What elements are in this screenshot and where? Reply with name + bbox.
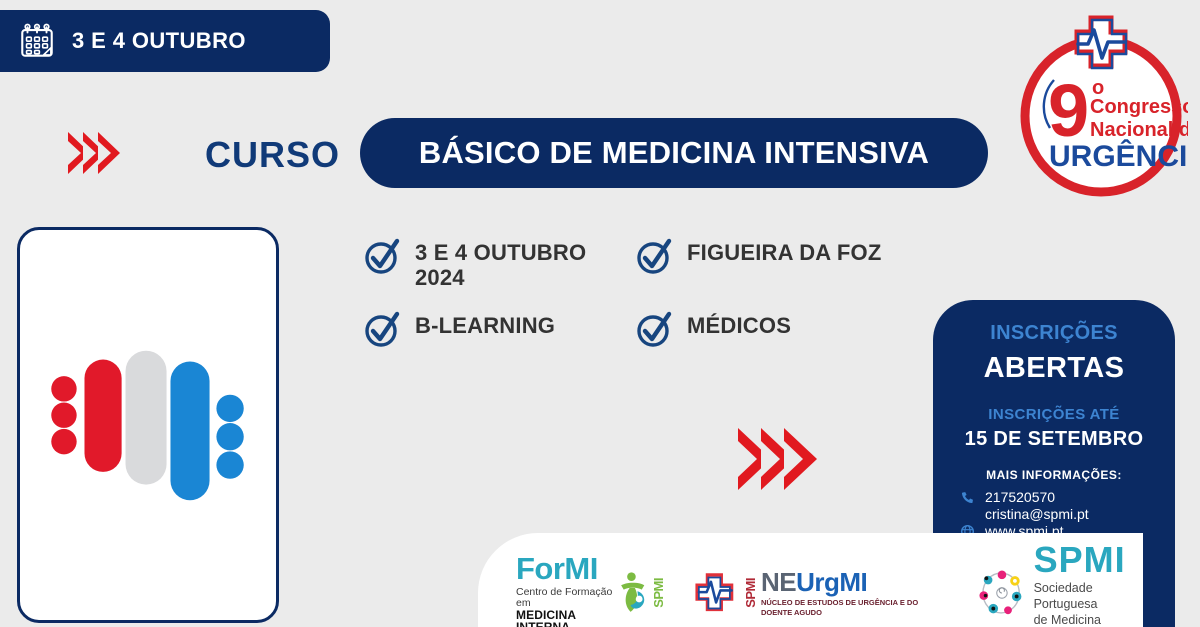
contact-row-email[interactable]: cristina@spmi.pt (960, 506, 1175, 522)
spmi-molecule-icon (976, 565, 1026, 621)
formi-wordmark: ForMI (516, 553, 616, 584)
registration-until-label: INSCRIÇÕES ATÉ (933, 406, 1175, 423)
triple-chevron-right-icon (738, 428, 807, 490)
check-circle-icon (634, 309, 674, 349)
feature-label: MÉDICOS (687, 313, 791, 338)
contact-list: 217520570 cristina@spmi.pt www.spmi.pt (933, 489, 1175, 539)
neurgmi-wordmark-part2: UrgMI (796, 567, 867, 597)
feature-label: 3 E 4 OUTUBRO 2024 (415, 240, 610, 291)
registration-kicker: INSCRIÇÕES (933, 322, 1175, 345)
formi-figure-icon (616, 567, 650, 619)
contact-email: cristina@spmi.pt (985, 506, 1089, 522)
promo-banner: 3 E 4 OUTUBRO CURSO BÁSICO DE MEDICINA I… (0, 0, 1200, 627)
more-info-label: MAIS INFORMAÇÕES: (933, 468, 1175, 482)
medical-cross-heartbeat-icon (692, 567, 740, 619)
contact-phone: 217520570 (985, 489, 1055, 505)
congress-logo: 9 o Congresso Nacional da URGÊNCIA (1014, 8, 1188, 200)
feature-label: FIGUEIRA DA FOZ (687, 240, 881, 265)
formi-subtitle-2: MEDICINA INTERNA (516, 609, 616, 627)
feature-item-location: FIGUEIRA DA FOZ (634, 240, 882, 291)
congress-line2: Nacional da (1090, 119, 1188, 141)
spmi-subtitle-2: de Medicina Interna (1034, 613, 1101, 627)
neurgmi-wordmark-part1: NE (761, 567, 796, 597)
calendar-icon (18, 22, 56, 60)
triple-chevron-right-icon (68, 132, 113, 174)
spmi-subtitle-1: Sociedade Portuguesa (1034, 581, 1098, 611)
check-circle-icon (634, 236, 674, 276)
congress-line1: Congresso (1090, 96, 1188, 118)
page-title: BÁSICO DE MEDICINA INTENSIVA (419, 135, 929, 171)
left-graphic-card (17, 227, 279, 623)
phone-icon (960, 490, 975, 505)
neurgmi-logo: SPMI NEUrgMI NÚCLEO DE ESTUDOS DE URGÊNC… (692, 567, 951, 619)
spmi-wordmark: SPMI (1034, 542, 1143, 578)
feature-item-format: B-LEARNING (362, 313, 634, 349)
course-kicker: CURSO (205, 134, 340, 176)
spmi-logo: SPMI Sociedade Portuguesa de Medicina In… (976, 542, 1143, 627)
formi-subtitle-1: Centro de Formação em (516, 587, 616, 608)
registration-deadline: 15 DE SETEMBRO (933, 428, 1175, 451)
congress-line3: URGÊNCIA (1049, 139, 1188, 173)
date-badge: 3 E 4 OUTUBRO (0, 10, 330, 72)
abstract-pills-graphic (20, 230, 276, 620)
feature-label: B-LEARNING (415, 313, 555, 338)
contact-row-phone[interactable]: 217520570 (960, 489, 1175, 505)
check-circle-icon (362, 309, 402, 349)
course-title-pill: BÁSICO DE MEDICINA INTENSIVA (360, 118, 988, 188)
date-badge-text: 3 E 4 OUTUBRO (72, 28, 246, 54)
status-badge: ABERTAS (933, 352, 1175, 385)
feature-list: 3 E 4 OUTUBRO 2024 FIGUEIRA DA FOZ B-LEA… (362, 240, 882, 349)
neurgmi-subtitle: NÚCLEO DE ESTUDOS DE URGÊNCIA E DO DOENT… (761, 598, 950, 617)
neurgmi-vertical-spmi: SPMI (743, 578, 758, 608)
formi-vertical-spmi: SPMI (651, 578, 666, 608)
formi-logo: ForMI Centro de Formação em MEDICINA INT… (516, 553, 666, 627)
feature-item-audience: MÉDICOS (634, 313, 882, 349)
partner-logo-bar: ForMI Centro de Formação em MEDICINA INT… (478, 533, 1143, 627)
feature-item-dates: 3 E 4 OUTUBRO 2024 (362, 240, 634, 291)
check-circle-icon (362, 236, 402, 276)
